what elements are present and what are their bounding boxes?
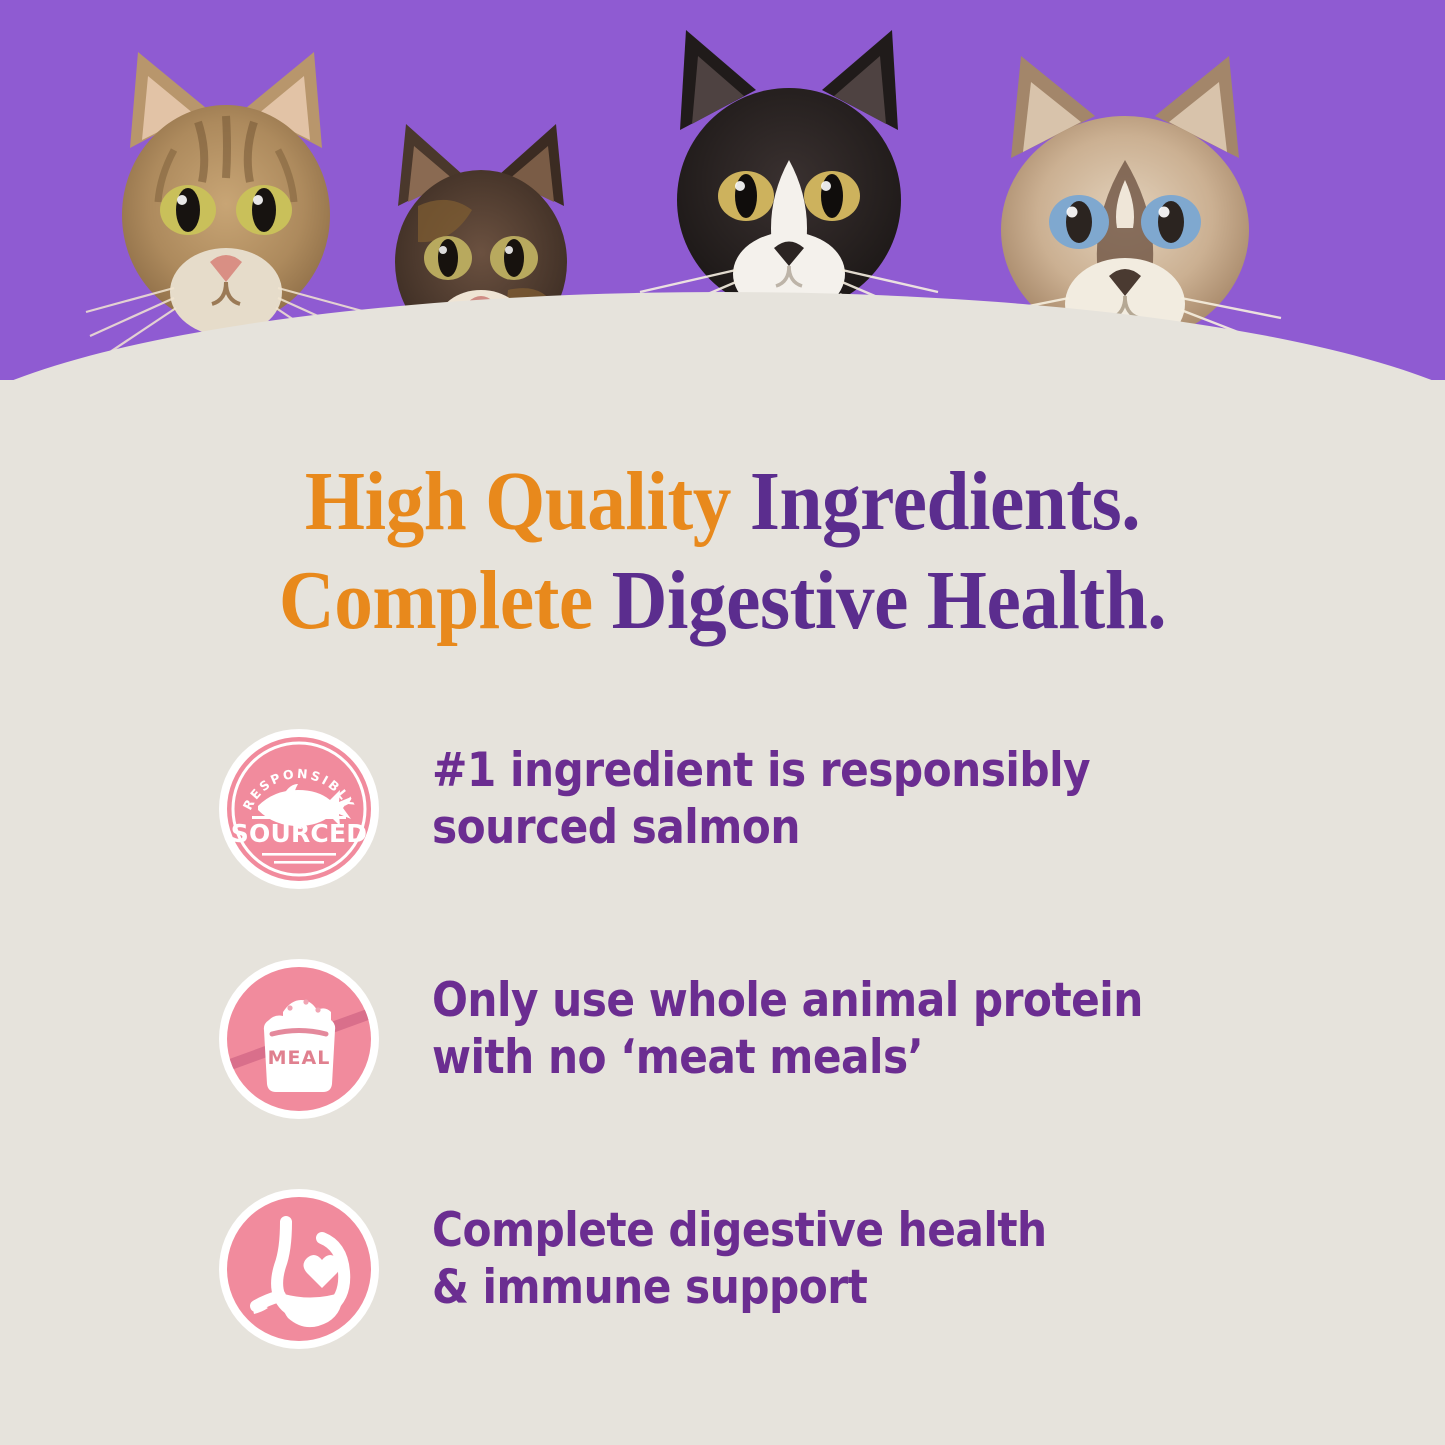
headline-line-1: High Quality Ingredients. xyxy=(58,452,1387,551)
headline-line2-purple: Digestive Health. xyxy=(612,554,1167,647)
no-meat-meal-bag-badge-icon: MEAL xyxy=(214,954,384,1124)
product-feature-graphic: High Quality Ingredients. Complete Diges… xyxy=(0,0,1445,1445)
headline-line1-purple: Ingredients. xyxy=(750,455,1140,548)
page-title: High Quality Ingredients. Complete Diges… xyxy=(0,452,1445,650)
benefit-description: #1 ingredient is responsibly sourced sal… xyxy=(432,742,1090,857)
list-item: MEAL Only use whole animal protein with … xyxy=(0,946,1445,1176)
benefits-list: RESPONSIBLY SOURCED #1 ingredi xyxy=(0,716,1445,1406)
benefit-description: Complete digestive health & immune suppo… xyxy=(432,1202,1047,1317)
headline-line-2: Complete Digestive Health. xyxy=(58,551,1387,650)
benefit-description: Only use whole animal protein with no ‘m… xyxy=(432,972,1143,1087)
list-item: RESPONSIBLY SOURCED #1 ingredi xyxy=(0,716,1445,946)
headline-line1-orange: High Quality xyxy=(305,455,750,548)
responsibly-sourced-fish-badge-icon: RESPONSIBLY SOURCED xyxy=(214,724,384,894)
headline-line2-orange: Complete xyxy=(279,554,612,647)
list-item: Complete digestive health & immune suppo… xyxy=(0,1176,1445,1406)
badge-main-label: SOURCED xyxy=(231,819,367,848)
stomach-heart-digestive-health-badge-icon xyxy=(214,1184,384,1354)
hero-banner xyxy=(0,0,1445,400)
badge-main-label: MEAL xyxy=(268,1047,331,1069)
